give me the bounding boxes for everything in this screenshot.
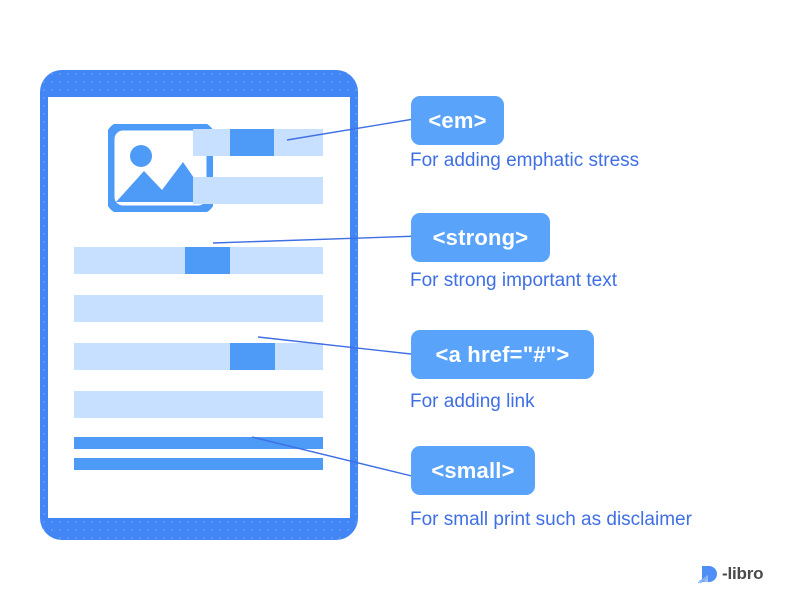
annotation-pill-small[interactable]: <small> — [411, 446, 535, 495]
annotation-caption-small: For small print such as disclaimer — [410, 509, 692, 531]
bar-subtitle — [193, 177, 323, 204]
annotation-caption-anchor: For adding link — [410, 391, 535, 413]
annotation-caption-strong: For strong important text — [410, 270, 617, 292]
illustration-canvas: <em> For adding emphatic stress <strong>… — [0, 0, 800, 600]
bar-paragraph-1-highlight — [185, 247, 230, 274]
annotation-tag-em: <em> — [428, 108, 486, 134]
brand-logo: -libro — [698, 564, 763, 584]
d-libro-mark-icon — [698, 564, 720, 584]
bar-footer-1 — [74, 437, 323, 449]
annotation-pill-strong[interactable]: <strong> — [411, 213, 550, 262]
annotation-tag-strong: <strong> — [433, 225, 529, 251]
bar-paragraph-2 — [74, 295, 323, 322]
phone-mockup — [40, 70, 358, 540]
annotation-tag-small: <small> — [431, 458, 514, 484]
brand-logo-text: -libro — [722, 564, 763, 584]
bar-paragraph-4 — [74, 391, 323, 418]
bar-title-highlight — [230, 129, 274, 156]
bar-footer-2 — [74, 458, 323, 470]
phone-screen — [48, 97, 350, 518]
bar-paragraph-3-highlight — [230, 343, 275, 370]
annotation-tag-anchor: <a href="#"> — [436, 342, 570, 368]
annotation-pill-em[interactable]: <em> — [411, 96, 504, 145]
annotation-pill-anchor[interactable]: <a href="#"> — [411, 330, 594, 379]
annotation-caption-em: For adding emphatic stress — [410, 150, 639, 172]
bar-paragraph-3 — [74, 343, 323, 370]
